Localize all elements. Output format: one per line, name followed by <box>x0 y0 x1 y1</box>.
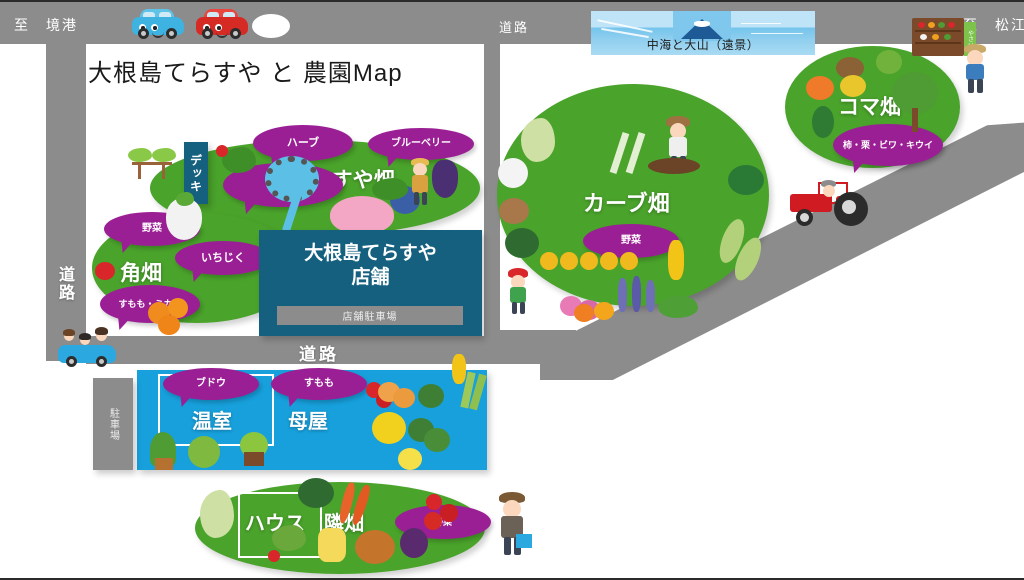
kiwi-icon <box>840 75 866 97</box>
sunflower-icon <box>580 252 598 270</box>
blue-car-icon <box>132 9 184 39</box>
turnip-icon <box>498 158 528 188</box>
tag-grape-house: ブドウ <box>163 368 259 400</box>
tag-plum-house: すもも <box>271 368 367 400</box>
potted-plant-icon <box>188 436 220 468</box>
tag-blueberry: ブルーベリー <box>368 128 474 160</box>
watering-can-icon <box>265 156 319 202</box>
sunflower-icon <box>600 252 618 270</box>
lime-icon <box>418 384 444 408</box>
kabocha-icon <box>298 478 334 508</box>
lavender-icon <box>618 278 627 312</box>
tree-trunk-icon <box>912 108 918 132</box>
pot-icon <box>244 452 264 466</box>
produce-stand-icon <box>912 18 964 56</box>
farmer-icon <box>496 492 530 556</box>
sunflower-icon <box>620 252 638 270</box>
grape-cluster-icon <box>432 160 458 198</box>
foliage-icon <box>658 296 698 318</box>
family-car-icon <box>58 337 116 367</box>
tomato-icon <box>424 512 442 530</box>
yuzu-icon <box>372 412 406 444</box>
main-house-label: 母屋 <box>288 405 328 434</box>
tag-koma-fruits: 柿・栗・ビワ・キウイ <box>833 124 943 166</box>
speech-bubble-icon <box>252 14 290 38</box>
sea-view-label: 中海と大山（遠景） <box>591 36 815 53</box>
road-west-vertical <box>46 44 86 361</box>
berry-icon <box>95 262 115 280</box>
berry-icon <box>216 145 228 157</box>
farm-map: 至 境港 至 松江 道路 道路 道路 大根島てらすや と 農園Map 中海と大山… <box>0 0 1024 580</box>
watermelon-icon <box>812 106 834 138</box>
picnic-table-icon <box>126 148 178 184</box>
tractor-icon <box>790 180 864 226</box>
napa-cabbage-icon <box>521 118 555 162</box>
lavender-icon <box>646 280 655 312</box>
lavender-icon <box>632 276 641 312</box>
potato-icon <box>499 198 529 224</box>
persimmon-icon <box>806 76 834 100</box>
shop-building[interactable]: 大根島てらすや 店舗 店舗駐車場 <box>259 230 482 336</box>
road-label-top-center: 道路 <box>499 17 529 36</box>
sea-view-banner: 中海と大山（遠景） <box>591 11 815 55</box>
fruit-tree-icon <box>876 50 902 74</box>
tomato-icon <box>426 494 442 510</box>
pot-icon <box>155 458 173 470</box>
corn-icon <box>318 528 346 562</box>
road-label-west: 道路 <box>52 266 76 302</box>
turnip-leaf-icon <box>176 192 194 206</box>
watermelon-icon <box>728 165 764 195</box>
child-farmer-icon <box>506 268 532 314</box>
lime-icon <box>424 428 450 452</box>
rapeseed-flower-icon <box>452 354 466 384</box>
eggplant-icon <box>400 528 428 558</box>
page-title: 大根島てらすや と 農園Map <box>88 53 403 88</box>
kabocha-icon <box>505 228 539 258</box>
field-kaku-label: 角畑 <box>120 257 162 287</box>
radish-icon <box>268 550 280 562</box>
tomato-icon <box>440 504 458 522</box>
napa-cabbage-icon <box>200 490 234 538</box>
sunflower-icon <box>560 252 578 270</box>
soil-mound-icon <box>648 158 700 174</box>
marigold-icon <box>574 304 594 322</box>
leaf-icon <box>272 525 306 551</box>
tag-herb: ハーブ <box>253 125 353 161</box>
apricot-icon <box>393 388 415 408</box>
red-car-icon <box>196 9 248 39</box>
rapeseed-flower-icon <box>668 240 684 280</box>
farmer-icon <box>962 44 990 94</box>
field-curve-label: カーブ畑 <box>583 186 670 218</box>
bucket-icon <box>516 534 532 548</box>
tag-fig: いちじく <box>175 241 271 275</box>
farmer-icon <box>408 158 432 206</box>
shop-name: 大根島てらすや 店舗 <box>259 242 482 290</box>
greenhouse-label: 温室 <box>192 405 232 434</box>
marigold-icon <box>594 302 614 320</box>
mandarin-icon <box>158 315 180 335</box>
parking-west[interactable]: 駐車場 <box>93 378 133 470</box>
citrus-slice-icon <box>398 448 422 470</box>
road-label-middle: 道路 <box>299 340 339 365</box>
sunflower-icon <box>540 252 558 270</box>
onion-icon <box>355 530 395 564</box>
shop-parking-label: 店舗駐車場 <box>277 306 463 325</box>
road-destination-west: 至 境港 <box>14 15 78 35</box>
